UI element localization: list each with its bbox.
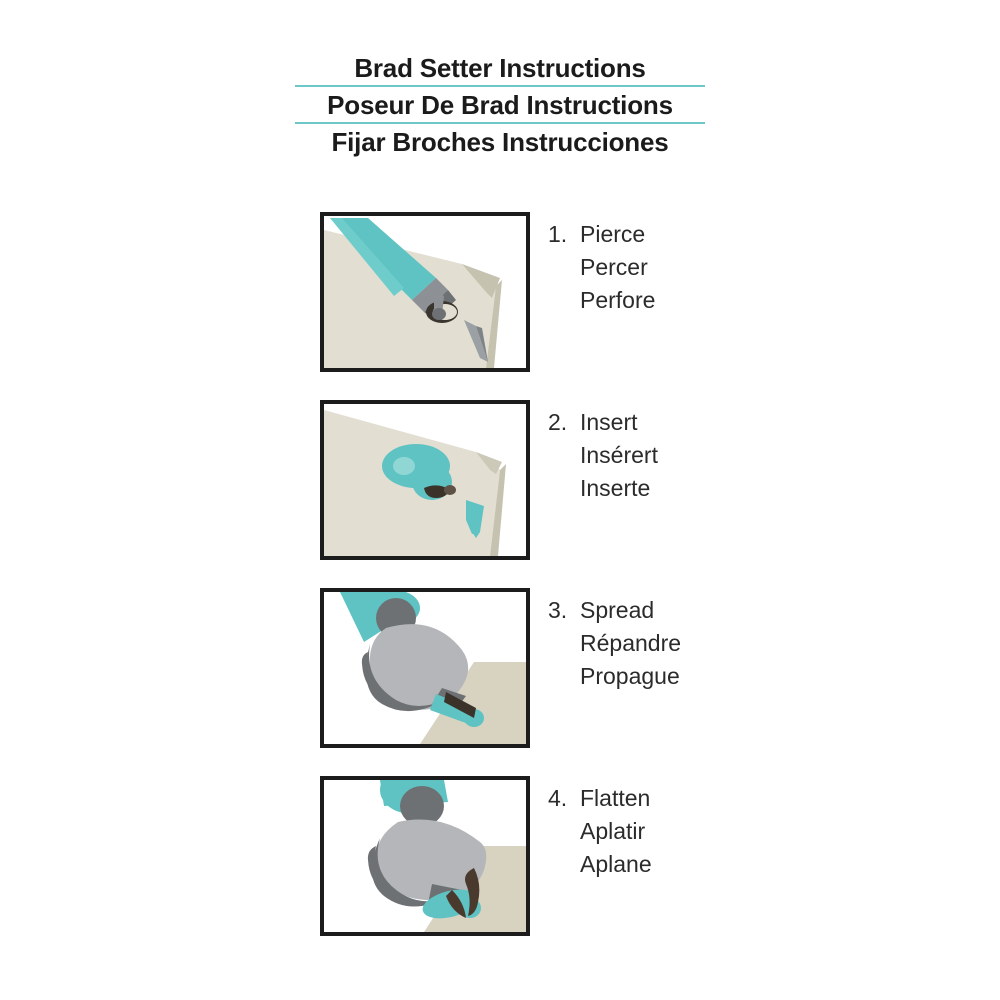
step-label-es-2: Inserte (580, 472, 658, 505)
illustration-panel-3 (320, 588, 530, 748)
title-block: Brad Setter Instructions Poseur De Brad … (0, 52, 1000, 158)
step-label-en-3: Spread (580, 594, 681, 627)
step-label-fr-1: Percer (580, 251, 655, 284)
step-label-fr-2: Insérert (580, 439, 658, 472)
step-words-1: Pierce Percer Perfore (580, 218, 655, 317)
spreader-blade-spreading-icon (324, 592, 526, 744)
step-words-3: Spread Répandre Propague (580, 594, 681, 693)
step-number-4: 4. (548, 782, 567, 815)
illustration-panel-1 (320, 212, 530, 372)
step-row-4: 4. Flatten Aplatir Aplane (0, 776, 1000, 964)
step-words-4: Flatten Aplatir Aplane (580, 782, 652, 881)
step-label-es-1: Perfore (580, 284, 655, 317)
brad-setter-piercing-board-icon (324, 216, 526, 368)
step-number-1: 1. (548, 218, 567, 251)
illustration-panel-2 (320, 400, 530, 560)
step-number-2: 2. (548, 406, 567, 439)
spreader-blade-flattening-brad-icon (324, 780, 526, 932)
step-words-2: Insert Insérert Inserte (580, 406, 658, 505)
title-rule-2 (295, 122, 705, 124)
step-label-en-4: Flatten (580, 782, 652, 815)
step-label-en-1: Pierce (580, 218, 655, 251)
step-row-2: 2. Insert Insérert Inserte (0, 400, 1000, 588)
title-line-english: Brad Setter Instructions (0, 52, 1000, 84)
step-label-es-3: Propague (580, 660, 681, 693)
step-number-3: 3. (548, 594, 567, 627)
step-label-en-2: Insert (580, 406, 658, 439)
illustration-panel-4 (320, 776, 530, 936)
step-label-fr-4: Aplatir (580, 815, 652, 848)
step-row-3: 3. Spread Répandre Propague (0, 588, 1000, 776)
step-label-es-4: Aplane (580, 848, 652, 881)
title-rule-1 (295, 85, 705, 87)
step-label-fr-3: Répandre (580, 627, 681, 660)
title-line-spanish: Fijar Broches Instrucciones (0, 126, 1000, 158)
adhesive-blob-inserted-in-slot-icon (324, 404, 526, 556)
steps-list: 1. Pierce Percer Perfore (0, 212, 1000, 964)
step-row-1: 1. Pierce Percer Perfore (0, 212, 1000, 400)
title-line-french: Poseur De Brad Instructions (0, 89, 1000, 121)
